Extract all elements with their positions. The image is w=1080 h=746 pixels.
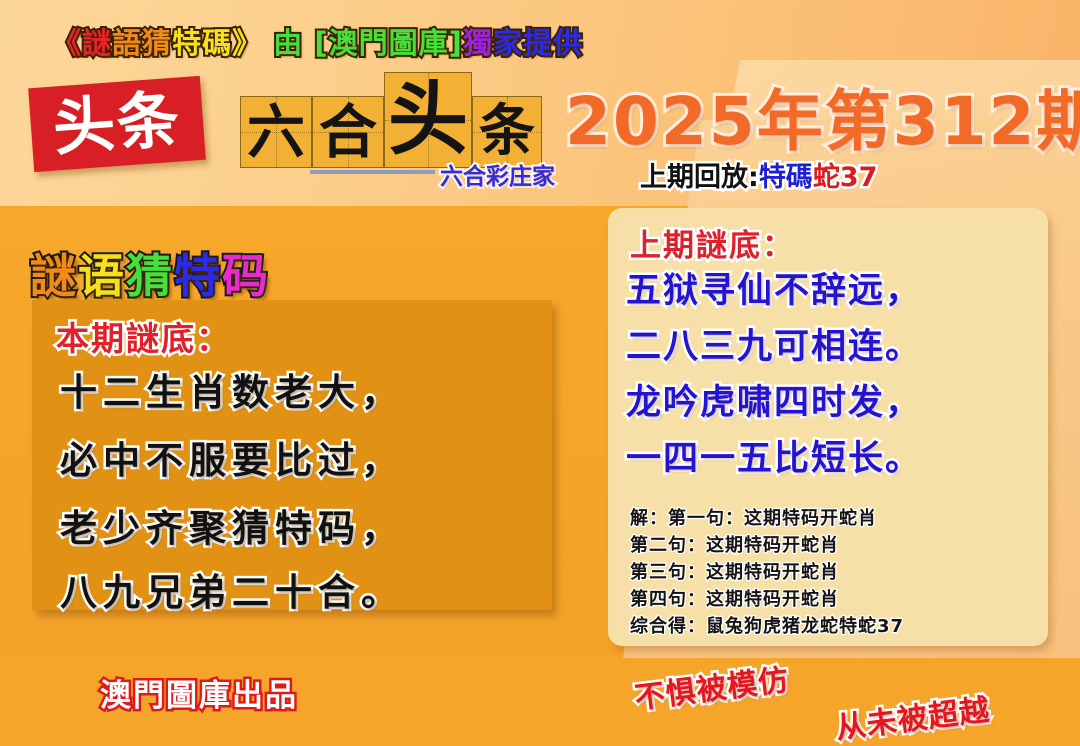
- toutiao-badge-label: 头条: [28, 76, 206, 172]
- current-riddle-line-2: 必中不服要比过，: [60, 430, 538, 484]
- banner-char-0: 《: [52, 26, 82, 60]
- replay-term: 特碼: [759, 162, 813, 193]
- explanation-line-4: 第四句：这期特码开蛇肖: [630, 585, 1040, 611]
- current-riddle-title: 本期謎底：: [56, 312, 231, 360]
- grid-char-1: 合: [312, 96, 384, 168]
- banner-char-7: [262, 26, 273, 60]
- grid-char-0: 六: [240, 96, 312, 168]
- logo-slogan: 六合彩庄家: [440, 157, 555, 191]
- banner-char-19: 供: [553, 26, 583, 60]
- banner-headline: 《謎語猜特碼》 由 [澳門圖庫]獨家提供: [52, 20, 583, 62]
- current-riddle-line-1: 十二生肖数老大，: [60, 362, 538, 416]
- issue-title: 2025年第312期: [565, 68, 1080, 164]
- grid-char-2: 头: [384, 72, 472, 168]
- banner-char-4: 特: [172, 26, 202, 60]
- current-riddle-line-3: 老少齐聚猜特码，: [60, 498, 538, 552]
- explanation-line-1: 解：第一句：这期特码开蛇肖: [630, 504, 1040, 530]
- previous-draw-replay: 上期回放:特碼蛇37: [640, 155, 877, 194]
- banner-char-13: 圖: [389, 26, 419, 60]
- banner-char-16: 獨: [463, 26, 493, 60]
- replay-label: 上期回放:: [640, 162, 759, 193]
- banner-char-17: 家: [493, 26, 523, 60]
- banner-char-15: ]: [449, 26, 463, 60]
- previous-riddle-box: 上期謎底： 五狱寻仙不辞远， 二八三九可相连。 龙吟虎啸四时发， 一四一五比短长…: [608, 208, 1048, 646]
- rainbow-char-1: 语: [78, 249, 126, 303]
- riddle-rainbow-title: 謎语猜特码: [30, 240, 270, 306]
- previous-riddle-line-1: 五狱寻仙不辞远，: [626, 262, 1036, 313]
- explanation-line-3: 第三句：这期特码开蛇肖: [630, 558, 1040, 584]
- rainbow-char-0: 謎: [30, 249, 78, 303]
- current-riddle-line-4: 八九兄弟二十合。: [60, 562, 538, 616]
- banner-char-18: 提: [523, 26, 553, 60]
- banner-char-11: 澳: [329, 26, 359, 60]
- banner-char-10: [: [314, 26, 328, 60]
- banner-char-1: 謎: [82, 26, 112, 60]
- previous-riddle-line-2: 二八三九可相连。: [626, 318, 1036, 369]
- banner-char-14: 庫: [419, 26, 449, 60]
- producer-mark: 澳門圖庫出品: [100, 670, 298, 715]
- previous-riddle-title: 上期謎底：: [630, 220, 795, 265]
- banner-char-2: 語: [112, 26, 142, 60]
- banner-char-5: 碼: [202, 26, 232, 60]
- rainbow-char-3: 特: [174, 249, 222, 303]
- toutiao-badge: 头条: [28, 76, 206, 172]
- explanation-line-2: 第二句：这期特码开蛇肖: [630, 531, 1040, 557]
- rainbow-char-4: 码: [222, 249, 270, 303]
- previous-riddle-line-3: 龙吟虎啸四时发，: [626, 374, 1036, 425]
- explanation-line-5: 综合得：鼠兔狗虎猪龙蛇特蛇37: [630, 612, 1040, 638]
- banner-char-9: [303, 26, 314, 60]
- current-riddle-box: 本期謎底： 十二生肖数老大， 必中不服要比过， 老少齐聚猜特码， 八九兄弟二十合…: [32, 300, 552, 610]
- banner-char-12: 門: [359, 26, 389, 60]
- rainbow-char-2: 猜: [126, 249, 174, 303]
- divider-rule: [310, 170, 435, 174]
- previous-riddle-line-4: 一四一五比短长。: [626, 430, 1036, 481]
- banner-char-3: 猜: [142, 26, 172, 60]
- lottery-poster: 《謎語猜特碼》 由 [澳門圖庫]獨家提供 头条 六合头条 六合彩庄家 2025年…: [0, 0, 1080, 746]
- replay-value: 蛇37: [813, 162, 878, 193]
- banner-char-6: 》: [232, 26, 262, 60]
- banner-char-8: 由: [273, 26, 303, 60]
